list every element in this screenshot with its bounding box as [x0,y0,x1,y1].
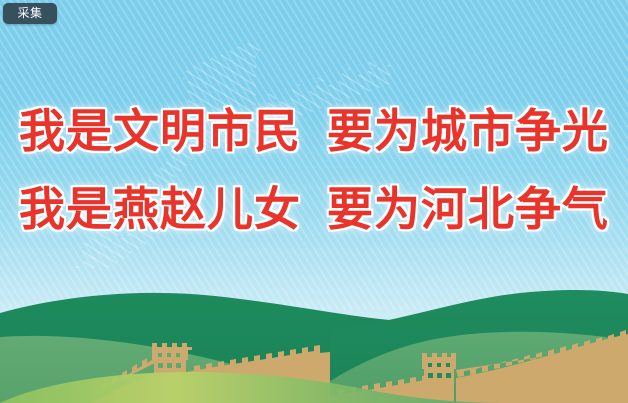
headline-line-2: 我是燕赵儿女要为河北争气 [0,170,628,248]
capture-button[interactable]: 采集 [3,3,57,24]
headline-line-2-right: 要为河北争气 [327,182,609,236]
headline-line-1-right: 要为城市争光 [327,104,609,158]
headline-line-2-left: 我是燕赵儿女 [19,182,301,236]
banner-screenshot: 我是文明市民要为城市争光 我是燕赵儿女要为河北争气 [0,0,628,403]
headline-line-1: 我是文明市民要为城市争光 [0,92,628,170]
headline-line-1-left: 我是文明市民 [19,104,301,158]
headline-block: 我是文明市民要为城市争光 我是燕赵儿女要为河北争气 [0,92,628,248]
